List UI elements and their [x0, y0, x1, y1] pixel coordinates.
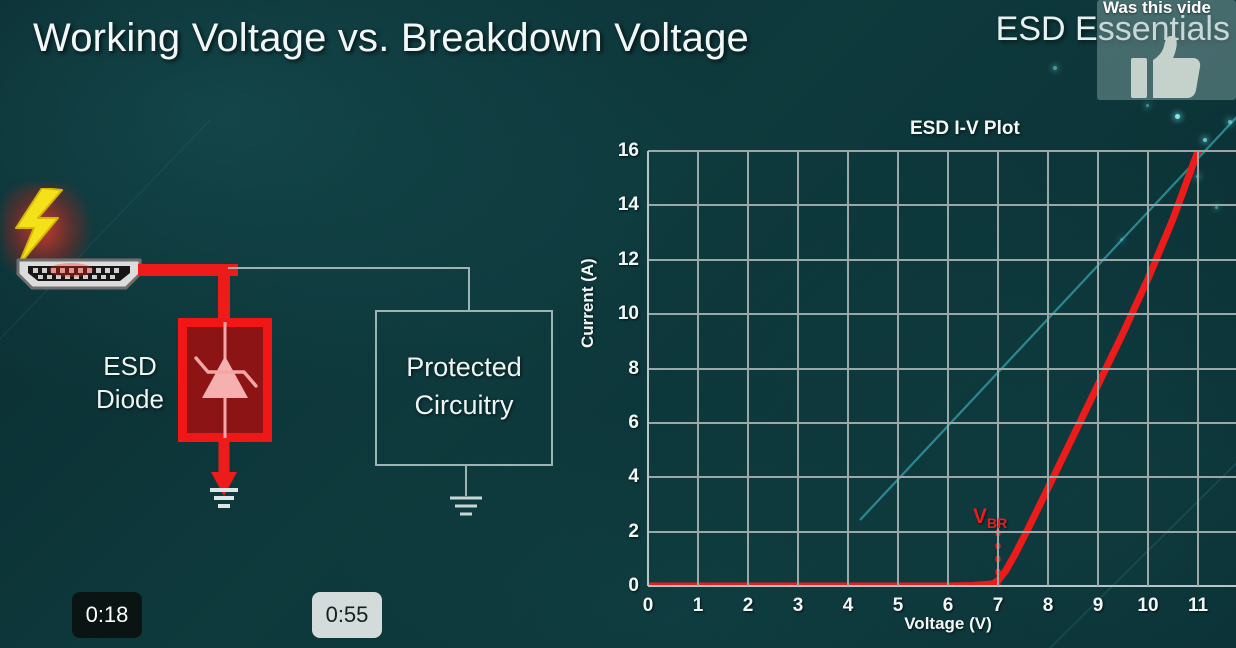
chart-x-tick-label: 9 — [1093, 595, 1104, 617]
chart-x-tick-label: 10 — [1137, 595, 1158, 617]
wire-red-vertical — [218, 264, 230, 326]
thumbs-up-icon[interactable] — [1131, 36, 1201, 98]
chart-y-tick-label: 6 — [628, 412, 639, 434]
timestamp-current[interactable]: 0:18 — [72, 592, 142, 638]
ground-symbol-icon-2 — [448, 466, 484, 524]
chart-y-axis-spine — [647, 151, 649, 586]
chart-x-tick-label: 3 — [793, 595, 804, 617]
chart-x-tick-label: 0 — [643, 595, 654, 617]
wire-gray-horizontal — [228, 267, 470, 269]
page-title: Working Voltage vs. Breakdown Voltage — [33, 16, 749, 61]
tvs-diode-icon — [182, 322, 268, 438]
chart-y-tick-label: 8 — [628, 358, 639, 380]
feedback-prompt: Was this vide — [1103, 0, 1236, 18]
chart-gridline-vertical — [1097, 151, 1099, 586]
chart-x-tick-label: 5 — [893, 595, 904, 617]
chart-y-axis-label: Current (A) — [578, 258, 598, 348]
esd-protection-circuit-diagram: ESD Diode Protected Circuitry — [0, 180, 600, 560]
chart-x-tick-label: 11 — [1188, 595, 1208, 617]
protected-circuitry-label: Protected Circuitry — [375, 348, 553, 424]
chart-y-tick-label: 10 — [618, 303, 639, 325]
video-frame: Working Voltage vs. Breakdown Voltage ES… — [0, 0, 1236, 648]
chart-y-tick-label: 14 — [618, 194, 639, 216]
chart-gridline-vertical — [1047, 151, 1049, 586]
chart-y-tick-label: 16 — [618, 140, 639, 162]
chart-gridline-vertical — [897, 151, 899, 586]
chart-x-tick-label: 4 — [843, 595, 854, 617]
chart-x-tick-label: 1 — [693, 595, 704, 617]
chart-y-tick-label: 4 — [628, 466, 639, 488]
video-feedback-overlay[interactable]: Was this vide — [1097, 0, 1236, 100]
esd-iv-chart: ESD I-V Plot Current (A) Voltage (V) 024… — [580, 110, 1236, 648]
chart-y-tick-label: 0 — [628, 575, 639, 597]
chart-x-tick-label: 7 — [993, 595, 1004, 617]
chart-gridline-vertical — [797, 151, 799, 586]
timestamp-total[interactable]: 0:55 — [312, 592, 382, 638]
chart-plot-area: 02468101214160123456789101112VBR — [648, 151, 1236, 586]
breakdown-voltage-label: VBR — [973, 505, 1007, 531]
chart-gridline-vertical — [947, 151, 949, 586]
chart-gridline-vertical — [847, 151, 849, 586]
chart-x-tick-label: 8 — [1043, 595, 1054, 617]
ground-symbol-icon — [208, 438, 240, 508]
esd-diode-label: ESD Diode — [86, 350, 174, 416]
chart-gridline-vertical — [697, 151, 699, 586]
chart-gridline-vertical — [1147, 151, 1149, 586]
hdmi-connector-icon — [14, 256, 144, 292]
chart-title: ESD I-V Plot — [580, 118, 1236, 140]
chart-gridline-vertical — [1197, 151, 1199, 586]
chart-gridline-vertical — [747, 151, 749, 586]
chart-x-axis-label: Voltage (V) — [648, 614, 1236, 634]
chart-y-tick-label: 2 — [628, 521, 639, 543]
chart-x-tick-label: 6 — [943, 595, 954, 617]
chart-y-tick-label: 12 — [618, 249, 639, 271]
chart-x-tick-label: 2 — [743, 595, 754, 617]
wire-gray-vertical — [468, 267, 470, 312]
